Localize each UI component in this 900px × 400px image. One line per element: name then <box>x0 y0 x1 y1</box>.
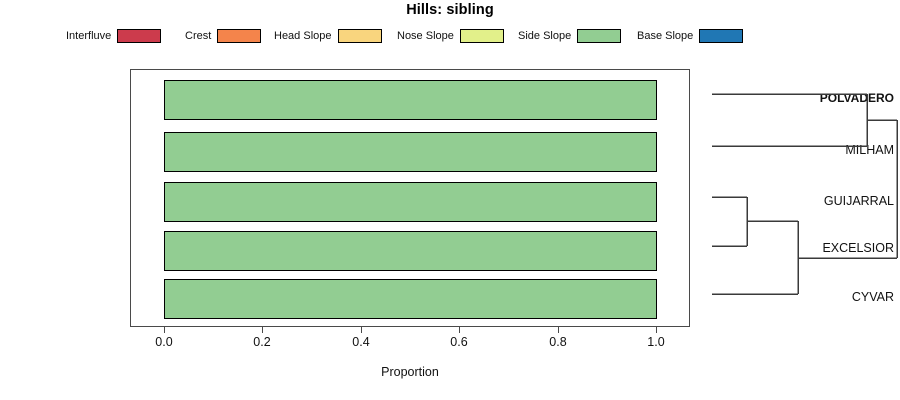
x-tick-1 <box>262 327 263 333</box>
legend-swatch-crest <box>217 29 261 43</box>
legend: Interfluve Crest Head Slope Nose Slope S… <box>0 26 900 46</box>
x-axis-title: Proportion <box>130 366 690 379</box>
bar-milham[interactable] <box>164 132 657 172</box>
legend-label: Interfluve <box>66 31 111 42</box>
x-tick-5 <box>656 327 657 333</box>
legend-swatch-side-slope <box>577 29 621 43</box>
x-tick-label-0: 0.0 <box>139 336 189 349</box>
chart-root: Hills: sibling Interfluve Crest Head Slo… <box>0 0 900 400</box>
legend-swatch-head-slope <box>338 29 382 43</box>
x-tick-label-2: 0.4 <box>336 336 386 349</box>
bar-polvadero[interactable] <box>164 80 657 120</box>
dendrogram <box>690 60 900 340</box>
x-tick-3 <box>459 327 460 333</box>
bar-excelsior[interactable] <box>164 231 657 271</box>
x-tick-label-1: 0.2 <box>237 336 287 349</box>
legend-label: Crest <box>185 31 211 42</box>
legend-label: Side Slope <box>518 31 571 42</box>
x-tick-4 <box>558 327 559 333</box>
x-tick-label-5: 1.0 <box>631 336 681 349</box>
plot-panel <box>130 69 690 327</box>
legend-item-base-slope: Base Slope <box>637 26 743 46</box>
legend-item-nose-slope: Nose Slope <box>397 26 504 46</box>
x-tick-label-4: 0.8 <box>533 336 583 349</box>
x-tick-label-3: 0.6 <box>434 336 484 349</box>
legend-item-side-slope: Side Slope <box>518 26 621 46</box>
legend-label: Head Slope <box>274 31 332 42</box>
bar-cyvar[interactable] <box>164 279 657 319</box>
x-tick-0 <box>164 327 165 333</box>
x-tick-2 <box>361 327 362 333</box>
page-title: Hills: sibling <box>0 2 900 18</box>
legend-swatch-interfluve <box>117 29 161 43</box>
dendrogram-svg <box>690 60 900 340</box>
legend-swatch-base-slope <box>699 29 743 43</box>
legend-item-interfluve: Interfluve <box>66 26 161 46</box>
legend-item-crest: Crest <box>185 26 261 46</box>
legend-item-head-slope: Head Slope <box>274 26 382 46</box>
bar-guijarral[interactable] <box>164 182 657 222</box>
legend-label: Nose Slope <box>397 31 454 42</box>
legend-swatch-nose-slope <box>460 29 504 43</box>
legend-label: Base Slope <box>637 31 693 42</box>
